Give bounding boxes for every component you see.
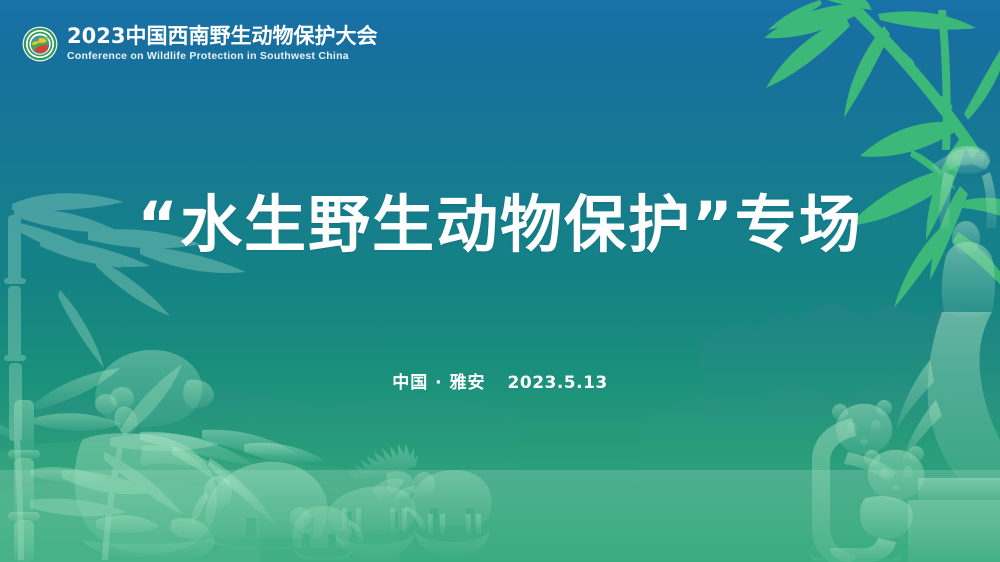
slide-meta-line: 中国 · 雅安2023.5.13 xyxy=(0,368,1000,393)
landmarks-layer xyxy=(0,0,1000,562)
meta-date: 2023.5.13 xyxy=(508,373,608,393)
conference-header: 2023中国西南野生动物保护大会 Conference on Wildlife … xyxy=(22,26,377,62)
landmarks-reflection xyxy=(812,556,900,562)
left-hill-2 xyxy=(0,482,260,562)
conference-emblem-icon xyxy=(22,26,58,62)
mid-animals-reflection xyxy=(294,530,490,562)
monkey xyxy=(290,506,364,548)
title-slide: 2023中国西南野生动物保护大会 Conference on Wildlife … xyxy=(0,0,1000,562)
panda-sculpture xyxy=(812,400,924,562)
mid-animals-layer xyxy=(0,0,1000,562)
bamboo-branch-held xyxy=(140,430,324,528)
takin xyxy=(394,470,492,534)
mountain-far-right xyxy=(700,300,1000,420)
left-hill-overlay xyxy=(0,0,1000,562)
bamboo-top-right-layer xyxy=(0,0,1000,562)
panda-scene-layer xyxy=(0,0,1000,562)
header-title-en: Conference on Wildlife Protection in Sou… xyxy=(67,51,377,62)
slide-main-title: “水生野生动物保护”专场 xyxy=(0,174,1000,264)
panda-reflection xyxy=(82,538,320,562)
header-title-cn: 2023中国西南野生动物保护大会 xyxy=(67,26,377,47)
deer xyxy=(328,444,426,532)
panda-sculpture-head-lower xyxy=(860,446,924,539)
elephant xyxy=(192,462,328,538)
meta-place: 中国 · 雅安 xyxy=(392,373,485,393)
bamboo-left-layer xyxy=(0,0,1000,562)
bamboo-stalk-thick xyxy=(0,368,122,562)
water-band xyxy=(0,470,1000,562)
panda-sculpture-head-upper xyxy=(832,400,892,454)
mountain-ridge-layer xyxy=(0,0,1000,562)
left-hill xyxy=(0,441,400,562)
mountain-left xyxy=(0,388,520,470)
